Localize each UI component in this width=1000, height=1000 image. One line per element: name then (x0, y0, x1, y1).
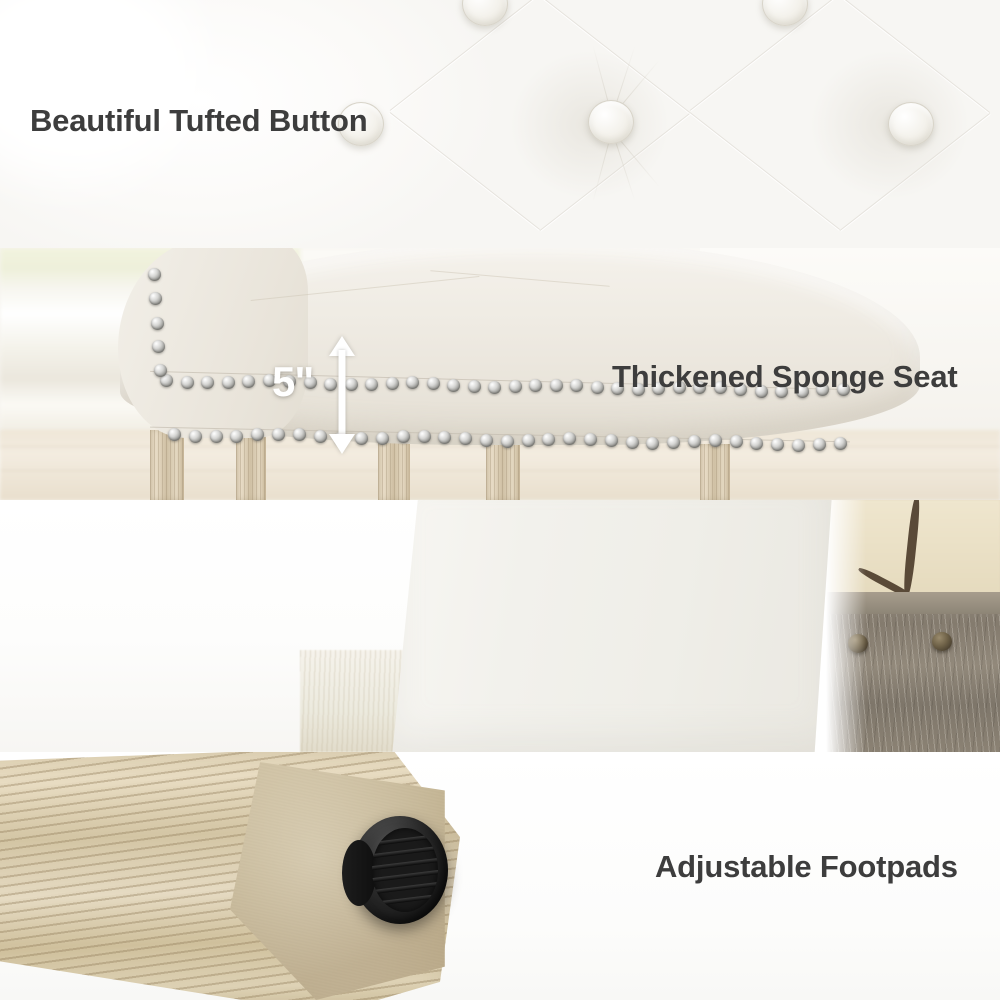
nailhead-stud (550, 379, 563, 392)
arrow-head-down (329, 434, 355, 454)
panel-sponge-seat: 5" Thickened Sponge Seat (0, 248, 1000, 500)
chair-leg (236, 434, 266, 500)
nailhead-stud (792, 439, 805, 452)
tufted-button-icon (588, 100, 634, 144)
edge-fade (826, 500, 866, 752)
adjustable-footpad-icon (352, 816, 448, 924)
footpad-groove (372, 881, 438, 895)
tufted-button-icon (888, 102, 934, 146)
nailhead-stud (418, 430, 431, 443)
nailhead-stud (509, 380, 522, 393)
nailhead-stud (730, 435, 743, 448)
footpad-groove (372, 857, 438, 871)
nailhead-stud (151, 317, 164, 330)
chair-leg (150, 430, 184, 500)
nailhead-stud (468, 380, 481, 393)
dimension-arrow-icon (322, 336, 362, 454)
nailhead-stud (210, 430, 223, 443)
nailhead-stud (242, 375, 255, 388)
chair-leg (700, 444, 730, 500)
nailhead-stud (222, 376, 235, 389)
nailhead-stud (386, 377, 399, 390)
nailhead-stud (834, 437, 847, 450)
nailhead-stud (750, 437, 763, 450)
highlight-blur (0, 0, 200, 180)
chair-leg (378, 436, 410, 500)
infographic-stage: Beautiful Tufted Button (0, 0, 1000, 1000)
tufting-pattern (350, 0, 1000, 248)
arrow-shaft (339, 350, 346, 440)
nailhead-stud (189, 430, 202, 443)
label-beautiful-tufted-button: Beautiful Tufted Button (30, 103, 367, 140)
nailhead-stud (522, 434, 535, 447)
nailhead-stud (427, 377, 440, 390)
chair-back-panel (392, 500, 832, 752)
panel-tufted-button: Beautiful Tufted Button (0, 0, 1000, 248)
nailhead-stud (376, 432, 389, 445)
nailhead-stud (148, 268, 161, 281)
footpad-rim (342, 840, 376, 906)
nailhead-stud (438, 431, 451, 444)
dimension-value-5in: 5" (272, 358, 313, 406)
nailhead-stud (154, 364, 167, 377)
nailhead-stud (480, 434, 493, 447)
label-thickened-sponge-seat: Thickened Sponge Seat (612, 359, 958, 396)
nailhead-stud (365, 378, 378, 391)
nailhead-stud (626, 436, 639, 449)
nailhead-stud (501, 435, 514, 448)
nailhead-stud (688, 435, 701, 448)
nailhead-stud (181, 376, 194, 389)
nailhead-stud (584, 433, 597, 446)
nailhead-stud (447, 379, 460, 392)
nailhead-stud (813, 438, 826, 451)
nailhead-stud (709, 434, 722, 447)
footpad-groove (372, 869, 438, 883)
nailhead-stud (591, 381, 604, 394)
footpad-tread-face (372, 828, 438, 912)
nailhead-stud (667, 436, 680, 449)
label-adjustable-footpads: Adjustable Footpads (655, 849, 958, 886)
nailhead-stud (542, 433, 555, 446)
nailhead-stud (646, 437, 659, 450)
footpad-groove (372, 845, 438, 859)
footpad-groove (372, 833, 438, 847)
footpad-groove (372, 893, 438, 907)
seat-corner (118, 248, 308, 438)
nailhead-stud (488, 381, 501, 394)
nailhead-stud (272, 428, 285, 441)
panel-back-ring: Distinctive and Decorative Back Ring (0, 500, 1000, 752)
chair-leg (486, 438, 520, 500)
drawer-knob (932, 632, 952, 651)
nailhead-stud (168, 428, 181, 441)
nailhead-stud (529, 379, 542, 392)
nailhead-stud (230, 430, 243, 443)
